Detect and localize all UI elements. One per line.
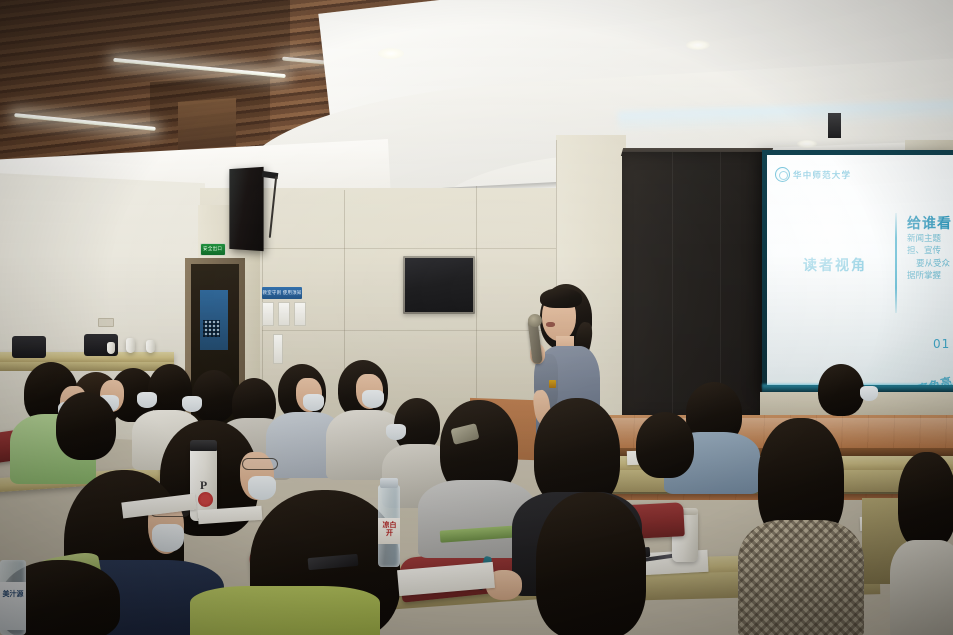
slide-body-line: 据所掌握 bbox=[907, 270, 953, 282]
paper-notice bbox=[273, 334, 283, 364]
slide-body-line: 担、宣传 bbox=[907, 245, 953, 257]
projection-screen[interactable]: 华中师范大学 读者视角 给谁看 新闻主题 担、宣传 要从受众 据所掌握 01 底… bbox=[767, 155, 953, 385]
back-table-cup bbox=[126, 338, 135, 353]
eyeglasses bbox=[242, 458, 278, 470]
paper-notice bbox=[294, 302, 306, 326]
downlight-1 bbox=[378, 48, 404, 59]
slide-divider bbox=[895, 213, 897, 313]
dark-acoustic-wall bbox=[622, 152, 770, 420]
student-head bbox=[818, 364, 864, 416]
face-mask bbox=[152, 524, 184, 552]
notice-board: 教室守则 使用须知 bbox=[262, 287, 302, 299]
wall-outlet bbox=[98, 318, 114, 327]
student-head bbox=[898, 452, 953, 548]
face-mask bbox=[386, 424, 406, 440]
wall-seam bbox=[262, 248, 556, 249]
student-head bbox=[56, 392, 116, 460]
student-body bbox=[890, 540, 953, 635]
student-head bbox=[536, 492, 646, 635]
presenter-hair-front bbox=[540, 288, 582, 308]
back-table-cup bbox=[107, 342, 115, 354]
ceiling-speaker bbox=[229, 167, 263, 251]
face-mask bbox=[860, 386, 878, 401]
projection-screen-frame: 华中师范大学 读者视角 给谁看 新闻主题 担、宣传 要从受众 据所掌握 01 底… bbox=[762, 150, 953, 392]
slide-left-title: 读者视角 bbox=[779, 255, 891, 275]
university-logo-icon bbox=[775, 167, 790, 182]
projector-mount bbox=[828, 113, 841, 138]
notebook bbox=[198, 506, 263, 524]
lecture-hall-photo: 安全出口 教室守则 使用须知 华中师范大学 读者视角 给谁看 新闻主题 bbox=[0, 0, 953, 635]
student-jacket bbox=[190, 586, 380, 635]
notice-board-label: 教室守则 使用须知 bbox=[262, 290, 301, 296]
paper-notice bbox=[262, 302, 274, 326]
thermos-logo: P bbox=[196, 478, 211, 493]
downlight-2 bbox=[686, 40, 710, 50]
qr-code-icon bbox=[203, 320, 220, 337]
slide-body-line: 要从受众 bbox=[907, 258, 953, 270]
face-mask bbox=[362, 390, 384, 408]
back-table-front bbox=[0, 362, 174, 371]
back-table-cup bbox=[146, 340, 155, 353]
downlight-4 bbox=[797, 140, 817, 148]
panel-seam bbox=[672, 152, 673, 420]
back-chair[interactable] bbox=[12, 336, 46, 358]
bottle-cap bbox=[380, 478, 398, 488]
exit-sign-label: 安全出口 bbox=[203, 247, 222, 252]
thermos-badge bbox=[198, 492, 213, 507]
wall-monitor-screen bbox=[405, 258, 473, 312]
paper-notice bbox=[278, 302, 290, 326]
university-logo: 华中师范大学 bbox=[775, 167, 851, 182]
bottle-label-2-text: 美汁源 bbox=[2, 590, 24, 598]
ceiling-recess-box bbox=[178, 98, 236, 150]
slide-body-line: 新闻主题 bbox=[907, 233, 953, 245]
face-mask bbox=[182, 396, 202, 412]
student-head bbox=[636, 412, 694, 478]
student-coat bbox=[738, 520, 864, 635]
presenter-mouth bbox=[546, 322, 555, 327]
panel-seam bbox=[720, 152, 721, 420]
face-mask bbox=[303, 394, 324, 411]
slide-heading: 给谁看 bbox=[907, 213, 953, 233]
slide-right-column: 给谁看 新闻主题 担、宣传 要从受众 据所掌握 bbox=[907, 213, 953, 282]
exit-sign: 安全出口 bbox=[200, 243, 226, 256]
university-logo-text: 华中师范大学 bbox=[793, 169, 851, 181]
face-mask bbox=[137, 392, 157, 408]
bottle-label-text: 凉白开 bbox=[380, 522, 399, 537]
wall-monitor[interactable] bbox=[403, 256, 475, 314]
face-mask bbox=[248, 476, 276, 500]
slide-section-number: 01 bbox=[933, 337, 950, 351]
lapel-badge bbox=[549, 380, 556, 388]
thermos-lid bbox=[190, 440, 217, 451]
